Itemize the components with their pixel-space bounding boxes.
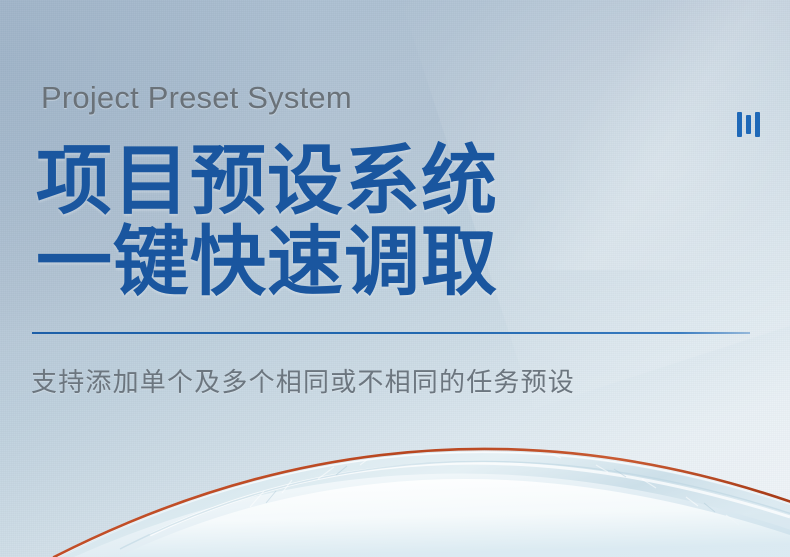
three-bar-logo-mark bbox=[737, 112, 763, 138]
eyebrow-text: Project Preset System bbox=[41, 80, 352, 116]
subcopy-text: 支持添加单个及多个相同或不相同的任务预设 bbox=[31, 362, 575, 399]
headline-line-1: 项目预设系统 bbox=[36, 142, 498, 223]
promo-banner: Project Preset System 项目预设系统 一键快速调取 支持添加… bbox=[0, 0, 790, 557]
headline-line-2: 一键快速调取 bbox=[36, 223, 498, 304]
logo-bar-right bbox=[755, 112, 760, 137]
logo-bar-middle bbox=[746, 115, 751, 134]
logo-bar-left bbox=[737, 112, 742, 137]
headline: 项目预设系统 一键快速调取 bbox=[36, 142, 498, 303]
divider-rule bbox=[32, 332, 750, 334]
banner-content: Project Preset System 项目预设系统 一键快速调取 支持添加… bbox=[0, 0, 790, 557]
